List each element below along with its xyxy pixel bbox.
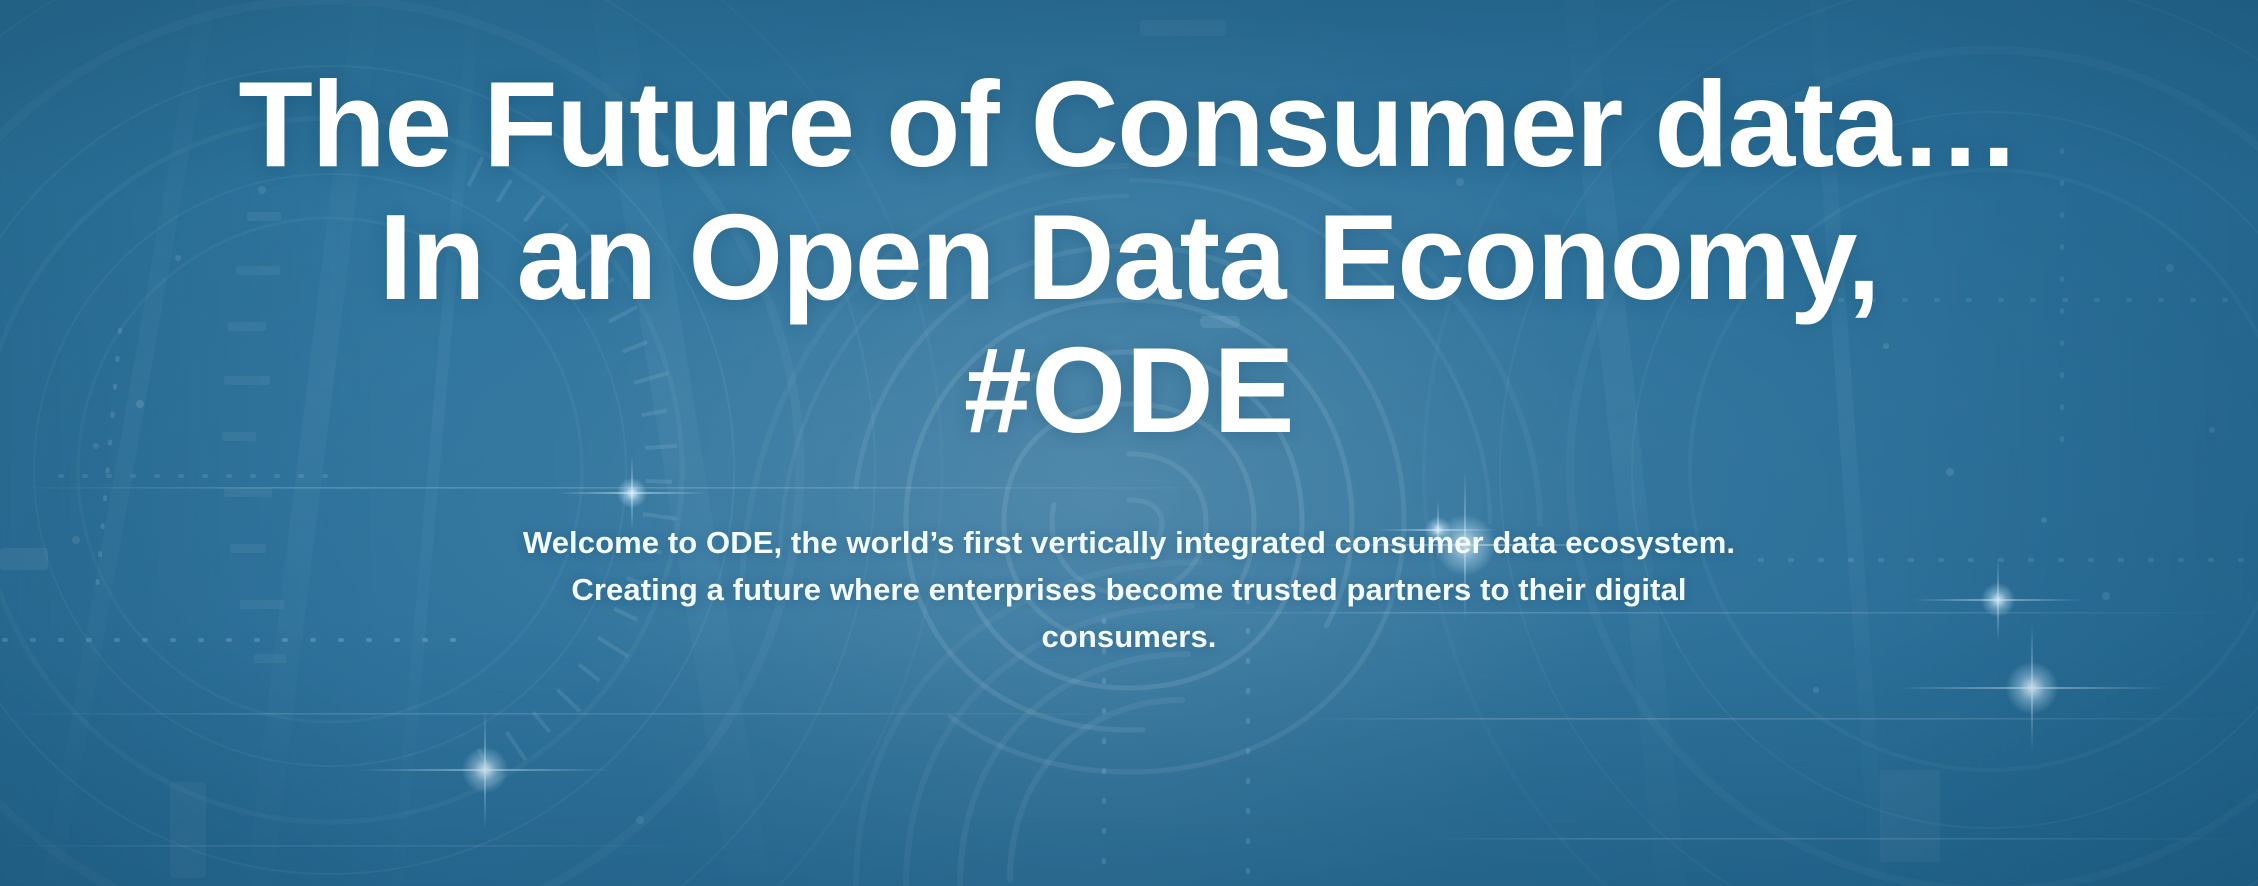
headline-line-3-hashtag: #ODE: [14, 324, 2244, 457]
hero-banner: The Future of Consumer data… In an Open …: [0, 0, 2258, 886]
subcopy-line-1: Welcome to ODE, the world’s first vertic…: [523, 525, 1735, 560]
hero-subcopy: Welcome to ODE, the world’s first vertic…: [484, 519, 1774, 660]
headline-line-1: The Future of Consumer data…: [14, 58, 2244, 191]
hero-content: The Future of Consumer data… In an Open …: [0, 0, 2258, 886]
subcopy-line-2: Creating a future where enterprises beco…: [571, 572, 1686, 607]
subcopy-line-3: consumers.: [1041, 619, 1216, 654]
headline-line-2: In an Open Data Economy,: [14, 191, 2244, 324]
hero-headline: The Future of Consumer data… In an Open …: [0, 0, 2258, 457]
